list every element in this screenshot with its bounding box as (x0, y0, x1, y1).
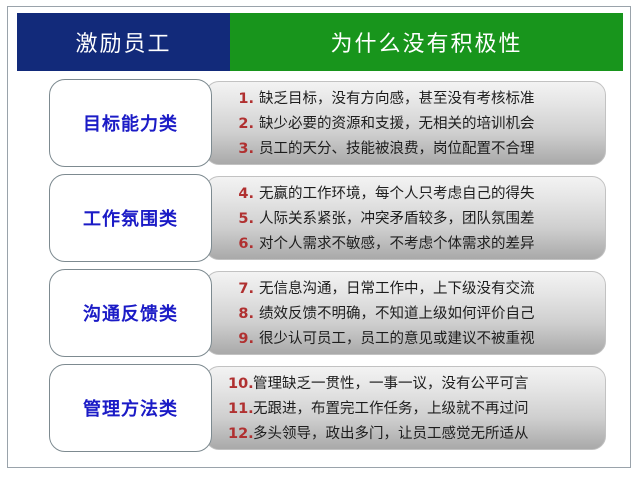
list-item: 2. 缺少必要的资源和支援，无相关的培训机会 (228, 112, 597, 137)
reasons-list: 4. 无赢的工作环境，每个人只考虑自己的得失 5. 人际关系紧张，冲突矛盾较多，… (228, 183, 597, 255)
reasons-list: 7. 无信息沟通，日常工作中，上下级没有交流 8. 绩效反馈不明确，不知道上级如… (228, 278, 597, 350)
header-right-title: 为什么没有积极性 (230, 13, 623, 71)
list-item-text: 多头领导，政出多门，让员工感觉无所适从 (253, 422, 529, 447)
content-row: 1. 缺乏目标，没有方向感，甚至没有考核标准 2. 缺少必要的资源和支援，无相关… (8, 79, 632, 167)
content-rows: 1. 缺乏目标，没有方向感，甚至没有考核标准 2. 缺少必要的资源和支援，无相关… (8, 79, 632, 459)
reasons-panel: 7. 无信息沟通，日常工作中，上下级没有交流 8. 绩效反馈不明确，不知道上级如… (205, 271, 606, 355)
content-row: 10. 管理缺乏一贯性，一事一议，没有公平可言 11. 无跟进，布置完工作任务，… (8, 364, 632, 452)
list-item-text: 缺乏目标，没有方向感，甚至没有考核标准 (259, 87, 535, 112)
list-item-number: 2. (228, 112, 254, 137)
content-row: 4. 无赢的工作环境，每个人只考虑自己的得失 5. 人际关系紧张，冲突矛盾较多，… (8, 174, 632, 262)
category-label: 工作氛围类 (83, 205, 178, 231)
header-left-title: 激励员工 (17, 13, 230, 71)
list-item: 9. 很少认可员工，员工的意见或建议不被重视 (228, 327, 597, 352)
list-item-text: 无赢的工作环境，每个人只考虑自己的得失 (259, 182, 535, 207)
list-item-text: 对个人需求不敏感，不考虑个体需求的差异 (259, 232, 535, 257)
list-item-number: 3. (228, 137, 254, 162)
category-label: 目标能力类 (83, 110, 178, 136)
list-item: 6. 对个人需求不敏感，不考虑个体需求的差异 (228, 232, 597, 257)
category-card: 沟通反馈类 (49, 269, 212, 357)
category-label: 管理方法类 (83, 395, 178, 421)
header-right-title-text: 为什么没有积极性 (330, 26, 522, 58)
list-item-text: 无跟进，布置完工作任务，上级就不再过问 (253, 397, 529, 422)
list-item-number: 5. (228, 207, 254, 232)
category-card: 目标能力类 (49, 79, 212, 167)
list-item-number: 10. (228, 372, 252, 397)
slide-header: 激励员工 为什么没有积极性 (17, 13, 623, 71)
list-item-text: 缺少必要的资源和支援，无相关的培训机会 (259, 112, 535, 137)
reasons-list: 10. 管理缺乏一贯性，一事一议，没有公平可言 11. 无跟进，布置完工作任务，… (228, 373, 597, 445)
list-item-number: 4. (228, 182, 254, 207)
list-item: 3. 员工的天分、技能被浪费，岗位配置不合理 (228, 137, 597, 162)
list-item: 7. 无信息沟通，日常工作中，上下级没有交流 (228, 277, 597, 302)
list-item-number: 12. (228, 422, 252, 447)
list-item-text: 员工的天分、技能被浪费，岗位配置不合理 (259, 137, 535, 162)
list-item-number: 11. (228, 397, 252, 422)
content-row: 7. 无信息沟通，日常工作中，上下级没有交流 8. 绩效反馈不明确，不知道上级如… (8, 269, 632, 357)
list-item-number: 7. (228, 277, 254, 302)
list-item-text: 无信息沟通，日常工作中，上下级没有交流 (259, 277, 535, 302)
list-item: 10. 管理缺乏一贯性，一事一议，没有公平可言 (228, 372, 597, 397)
list-item: 11. 无跟进，布置完工作任务，上级就不再过问 (228, 397, 597, 422)
category-card: 工作氛围类 (49, 174, 212, 262)
header-left-title-text: 激励员工 (75, 26, 171, 58)
list-item-text: 很少认可员工，员工的意见或建议不被重视 (259, 327, 535, 352)
list-item-number: 1. (228, 87, 254, 112)
list-item-number: 6. (228, 232, 254, 257)
category-card: 管理方法类 (49, 364, 212, 452)
list-item: 4. 无赢的工作环境，每个人只考虑自己的得失 (228, 182, 597, 207)
list-item: 1. 缺乏目标，没有方向感，甚至没有考核标准 (228, 87, 597, 112)
category-label: 沟通反馈类 (83, 300, 178, 326)
list-item-text: 人际关系紧张，冲突矛盾较多，团队氛围差 (259, 207, 535, 232)
slide-canvas: 激励员工 为什么没有积极性 1. 缺乏目标，没有方向感，甚至没有考核标准 2. … (7, 6, 631, 468)
list-item-text: 绩效反馈不明确，不知道上级如何评价自己 (259, 302, 535, 327)
list-item-text: 管理缺乏一贯性，一事一议，没有公平可言 (253, 372, 529, 397)
list-item: 8. 绩效反馈不明确，不知道上级如何评价自己 (228, 302, 597, 327)
reasons-panel: 4. 无赢的工作环境，每个人只考虑自己的得失 5. 人际关系紧张，冲突矛盾较多，… (205, 176, 606, 260)
list-item-number: 8. (228, 302, 254, 327)
reasons-list: 1. 缺乏目标，没有方向感，甚至没有考核标准 2. 缺少必要的资源和支援，无相关… (228, 88, 597, 160)
list-item: 5. 人际关系紧张，冲突矛盾较多，团队氛围差 (228, 207, 597, 232)
reasons-panel: 1. 缺乏目标，没有方向感，甚至没有考核标准 2. 缺少必要的资源和支援，无相关… (205, 81, 606, 165)
list-item-number: 9. (228, 327, 254, 352)
reasons-panel: 10. 管理缺乏一贯性，一事一议，没有公平可言 11. 无跟进，布置完工作任务，… (205, 366, 606, 450)
list-item: 12. 多头领导，政出多门，让员工感觉无所适从 (228, 422, 597, 447)
